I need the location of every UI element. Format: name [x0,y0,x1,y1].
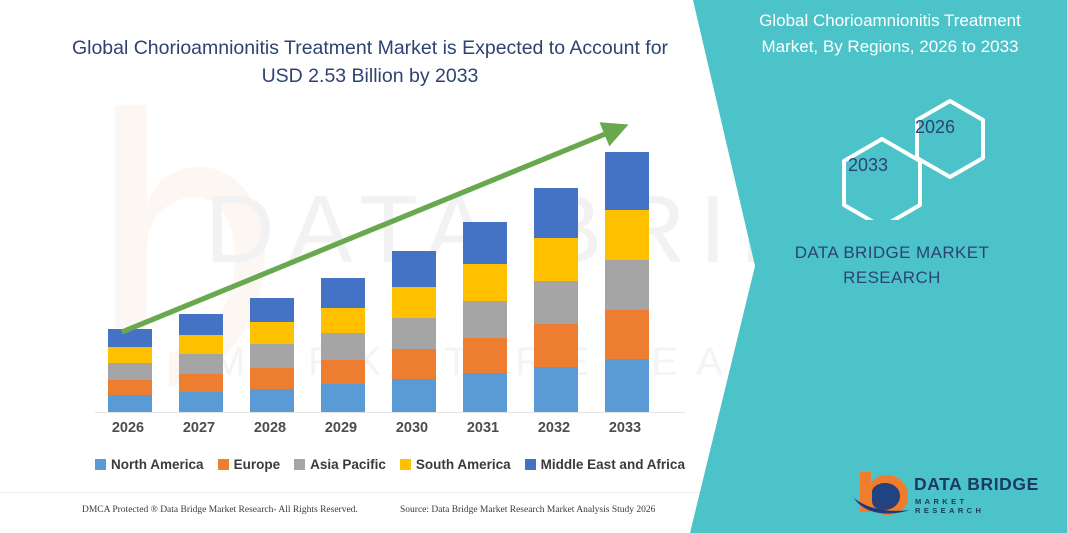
x-axis-labels: 20262027202820292030203120322033 [95,420,685,444]
legend-item-north-america[interactable]: North America [95,457,204,472]
bar-column-2028 [250,298,294,412]
logo-title: DATA BRIDGE [914,474,1039,495]
bar-column-2026 [108,329,152,412]
bar-segment-2027-4 [179,314,223,335]
footer-divider [0,492,760,493]
legend-item-asia-pacific[interactable]: Asia Pacific [294,457,386,472]
stacked-bar-chart [95,120,685,412]
bar-segment-2030-3 [392,287,436,318]
bar-column-2031 [463,222,507,412]
bar-column-2029 [321,278,365,412]
bar-segment-2026-1 [108,380,152,396]
left-chart-panel: Global Chorioamnionitis Treatment Market… [0,0,760,533]
x-axis-label-2026: 2026 [98,420,158,436]
x-axis-label-2031: 2031 [453,420,513,436]
bar-segment-2028-1 [250,368,294,389]
legend-label: Europe [234,457,281,472]
brand-name-line1: DATA BRIDGE MARKET [742,243,1042,263]
legend-item-south-america[interactable]: South America [400,457,511,472]
bar-segment-2029-1 [321,360,365,384]
bar-segment-2032-0 [534,367,578,413]
logo-tagline: MARKET RESEARCH [915,497,1042,515]
bar-segment-2028-2 [250,344,294,367]
bar-column-2030 [392,251,436,412]
bar-segment-2033-3 [605,210,649,260]
panel-title: Global Chorioamnionitis Treatment Market… [740,8,1040,60]
bar-segment-2029-4 [321,278,365,308]
bar-segment-2031-3 [463,264,507,301]
legend-label: North America [111,457,204,472]
bar-segment-2029-0 [321,384,365,412]
bar-segment-2032-4 [534,188,578,238]
legend-swatch-icon [400,459,411,470]
right-panel-content: Global Chorioamnionitis Treatment Market… [760,0,1067,533]
bar-segment-2031-1 [463,338,507,374]
chart-title: Global Chorioamnionitis Treatment Market… [60,34,680,90]
bar-segment-2033-2 [605,260,649,310]
hex-label-2026: 2026 [915,117,955,138]
bar-segment-2026-2 [108,363,152,380]
bar-segment-2032-2 [534,281,578,324]
bar-segment-2028-4 [250,298,294,322]
bar-segment-2027-2 [179,354,223,374]
bar-segment-2031-0 [463,373,507,412]
bar-column-2033 [605,152,649,412]
x-axis-label-2033: 2033 [595,420,655,436]
footer-dmca-text: DMCA Protected ® Data Bridge Market Rese… [82,505,358,515]
bar-segment-2026-3 [108,347,152,364]
bar-segment-2028-0 [250,389,294,412]
x-axis-label-2028: 2028 [240,420,300,436]
bar-segment-2033-0 [605,359,649,412]
bar-segment-2032-1 [534,324,578,366]
chart-legend: North AmericaEuropeAsia PacificSouth Ame… [95,453,685,475]
hexagon-badges: 2033 2026 [820,95,1020,220]
footer-source-text: Source: Data Bridge Market Research Mark… [400,505,655,515]
bar-segment-2030-4 [392,251,436,287]
legend-swatch-icon [218,459,229,470]
x-axis-label-2030: 2030 [382,420,442,436]
bar-segment-2029-3 [321,308,365,334]
x-axis-label-2032: 2032 [524,420,584,436]
x-axis-label-2027: 2027 [169,420,229,436]
bar-segment-2026-4 [108,329,152,347]
legend-label: South America [416,457,511,472]
bar-segment-2032-3 [534,238,578,281]
bar-segment-2029-2 [321,333,365,360]
bar-segment-2027-0 [179,392,223,412]
bar-segment-2033-1 [605,310,649,359]
legend-item-middle-east-and-africa[interactable]: Middle East and Africa [525,457,685,472]
bar-segment-2026-0 [108,395,152,412]
legend-swatch-icon [294,459,305,470]
bar-column-2032 [534,188,578,412]
legend-item-europe[interactable]: Europe [218,457,281,472]
footer: DMCA Protected ® Data Bridge Market Rese… [0,505,760,527]
bar-segment-2030-1 [392,349,436,379]
legend-swatch-icon [525,459,536,470]
brand-name-line2: RESEARCH [742,268,1042,288]
bar-segment-2033-4 [605,152,649,210]
data-bridge-logo: DATA BRIDGE MARKET RESEARCH [852,468,1042,522]
bar-segment-2027-3 [179,335,223,354]
legend-label: Middle East and Africa [541,457,685,472]
bar-column-2027 [179,314,223,412]
x-axis-line [95,412,685,413]
bar-segment-2030-2 [392,318,436,349]
bar-segment-2031-4 [463,222,507,264]
bar-segment-2031-2 [463,301,507,338]
logo-b-mark-icon [852,468,912,516]
legend-swatch-icon [95,459,106,470]
bar-segment-2028-3 [250,322,294,344]
bar-segment-2027-1 [179,374,223,392]
bar-segment-2030-0 [392,379,436,412]
hex-label-2033: 2033 [848,155,888,176]
x-axis-label-2029: 2029 [311,420,371,436]
legend-label: Asia Pacific [310,457,386,472]
